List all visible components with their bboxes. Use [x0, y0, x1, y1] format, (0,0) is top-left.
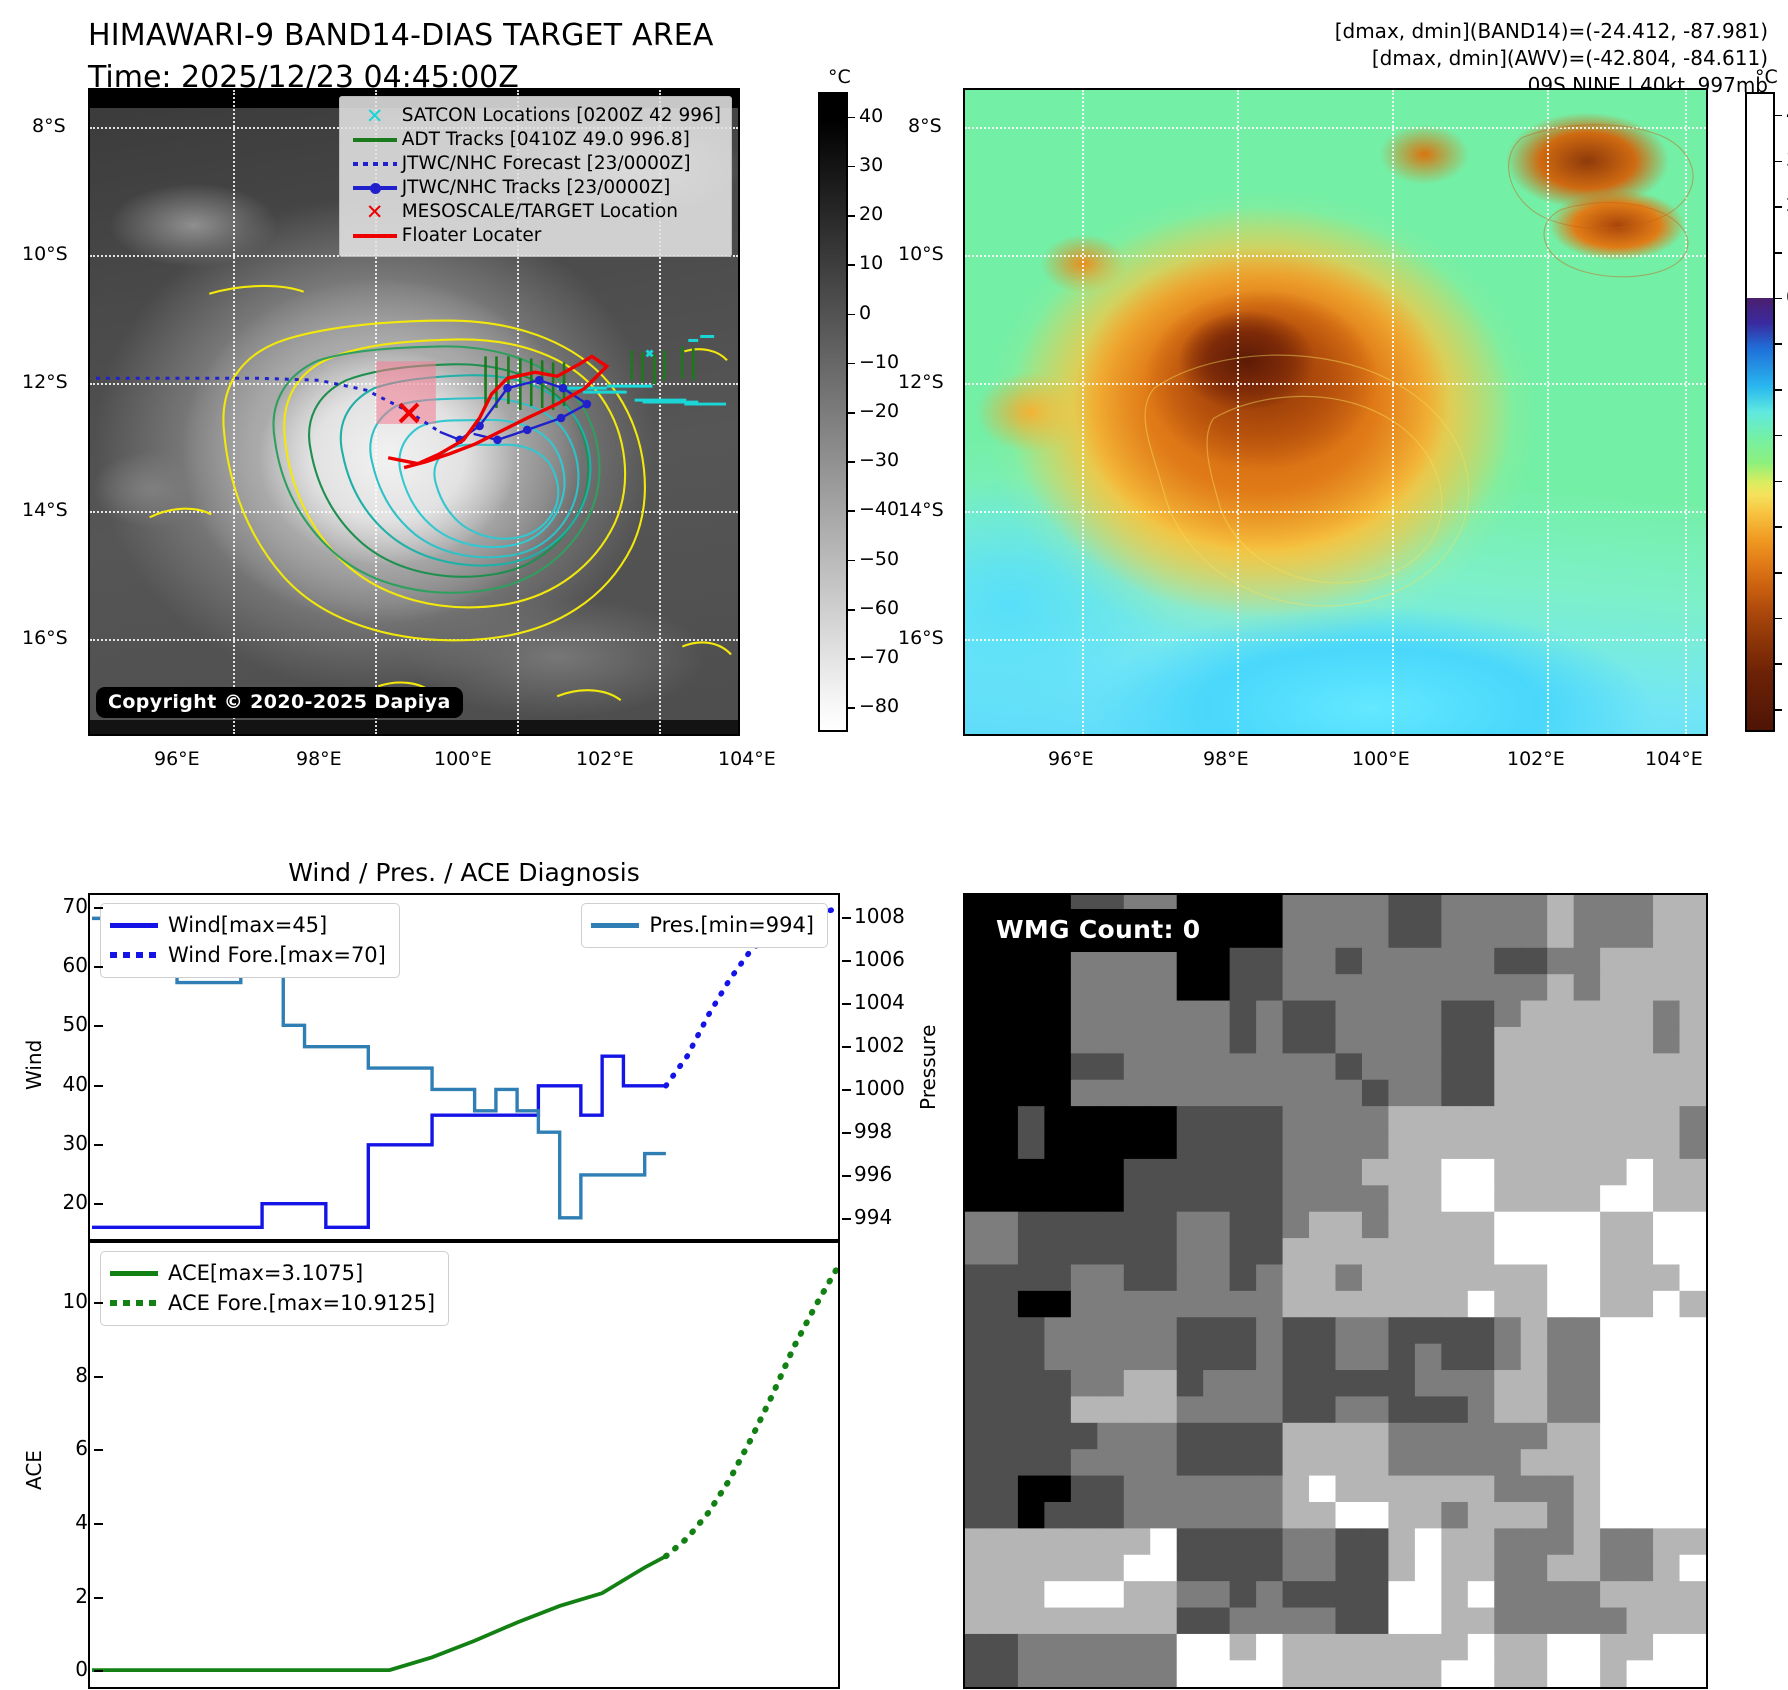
colorbar-tick-label: −40 [859, 498, 899, 520]
wmg-cell [1283, 1159, 1310, 1186]
wmg-cell [1124, 1053, 1151, 1080]
wmg-cell [1521, 1053, 1548, 1080]
wmg-cell [1468, 1449, 1495, 1476]
wmg-cell [1468, 1476, 1495, 1503]
wmg-cell [1124, 1212, 1151, 1239]
wmg-cell [1124, 1001, 1151, 1028]
wmg-cell [1230, 1053, 1257, 1080]
colorbar-tick-mark [1775, 343, 1782, 345]
wmg-cell [1124, 1291, 1151, 1318]
wmg-cell [1362, 1449, 1389, 1476]
wmg-cell [1335, 1555, 1362, 1582]
wmg-cell [1627, 1449, 1654, 1476]
wmg-cell [1018, 1608, 1045, 1635]
wmg-cell [991, 1634, 1018, 1661]
colorbar-tick-label: −60 [859, 597, 899, 619]
wmg-cell [1309, 921, 1336, 948]
legend-item: ACE Fore.[max=10.9125] [110, 1288, 435, 1318]
wmg-cell [1097, 1423, 1124, 1450]
wmg-cell [1362, 1133, 1389, 1160]
wmg-cell [1494, 1370, 1521, 1397]
wmg-cell [1097, 1528, 1124, 1555]
wmg-cell [1071, 1396, 1098, 1423]
wmg-cell [1680, 1159, 1706, 1186]
wmg-cell [1521, 1660, 1548, 1686]
wmg-cell [1441, 1423, 1468, 1450]
wmg-cell [1574, 1106, 1601, 1133]
wmg-cell [1150, 1423, 1177, 1450]
wmg-cell [1203, 1080, 1230, 1107]
colorbar-tick-label: 0 [859, 302, 871, 324]
wmg-cell [1574, 1344, 1601, 1371]
wmg-cell [1653, 1449, 1680, 1476]
wmg-cell [1468, 1027, 1495, 1054]
wmg-cell [1574, 895, 1601, 922]
wmg-cell [1441, 1001, 1468, 1028]
wmg-cell [1574, 1317, 1601, 1344]
wmg-cell [965, 1581, 992, 1608]
dotted-line-icon [110, 952, 168, 958]
wmg-cell [1388, 1370, 1415, 1397]
wmg-cell [1044, 1555, 1071, 1582]
wmg-cell [1362, 1238, 1389, 1265]
wmg-cell [965, 1608, 992, 1635]
wmg-cell [1494, 1423, 1521, 1450]
axis-tick-mark [94, 966, 103, 968]
wmg-cell [1441, 1449, 1468, 1476]
colorbar-tick-mark [1775, 435, 1782, 437]
wmg-cell [1124, 1528, 1151, 1555]
wmg-cell [1309, 1502, 1336, 1529]
wmg-cell [1653, 1291, 1680, 1318]
wmg-cell [1203, 1106, 1230, 1133]
wmg-cell [1177, 1528, 1204, 1555]
axis-tick-label: 1002 [854, 1033, 905, 1057]
solid-line-icon [348, 234, 402, 238]
wmg-cell [965, 1133, 992, 1160]
wmg-cell [1018, 1264, 1045, 1291]
wmg-cell [965, 1317, 992, 1344]
wmg-cell [1309, 1291, 1336, 1318]
wmg-cell [1150, 1476, 1177, 1503]
wmg-cell [1468, 1317, 1495, 1344]
wmg-cell [1362, 895, 1389, 922]
wmg-cell [1097, 1370, 1124, 1397]
wmg-cell [1309, 1185, 1336, 1212]
wmg-cell [1627, 895, 1654, 922]
wmg-cell [1362, 1528, 1389, 1555]
wmg-cell [1177, 1027, 1204, 1054]
solid-line-icon [110, 1271, 168, 1276]
wmg-cell [1494, 1185, 1521, 1212]
wmg-cell [1335, 895, 1362, 922]
wmg-cell [1468, 1555, 1495, 1582]
wmg-cell [1653, 1502, 1680, 1529]
wmg-cell [1044, 1053, 1071, 1080]
wind-pressure-chart[interactable]: Wind[max=45] Wind Fore.[max=70] Pres.[mi… [88, 893, 840, 1241]
wmg-cell [1230, 974, 1257, 1001]
wmg-cell [1018, 1370, 1045, 1397]
wmg-cell [1150, 1238, 1177, 1265]
wmg-cell [1653, 1344, 1680, 1371]
wmg-cell [1309, 1344, 1336, 1371]
wmg-cell [1494, 1581, 1521, 1608]
colorbar-tick-mark [848, 707, 855, 709]
wmg-cell [1018, 1291, 1045, 1318]
wmg-cell [1494, 1159, 1521, 1186]
wmg-cell [1627, 1528, 1654, 1555]
wmg-cell [1680, 1581, 1706, 1608]
axis-tick-mark [94, 1523, 103, 1525]
axis-tick-mark [842, 1132, 851, 1134]
wmg-cell [1283, 1001, 1310, 1028]
wmg-cell [1468, 1528, 1495, 1555]
wmg-cell [1230, 1370, 1257, 1397]
wmg-cell [1230, 1660, 1257, 1686]
wmg-cell [1097, 1053, 1124, 1080]
wmg-cell [1071, 1344, 1098, 1371]
wmg-cell [1388, 1001, 1415, 1028]
wmg-cell [1521, 1528, 1548, 1555]
ir-lat-tick: 14°S [22, 499, 68, 521]
wmg-cell [1415, 1106, 1442, 1133]
wmg-cell [1547, 1001, 1574, 1028]
wmg-cell [1415, 1212, 1442, 1239]
wmg-count-badge: WMG Count: 0 [979, 909, 1217, 952]
axis-tick-label: 10 [42, 1289, 88, 1313]
wmg-cell [1547, 1238, 1574, 1265]
wmg-cell [1600, 1080, 1627, 1107]
legend-item: Wind Fore.[max=70] [110, 940, 386, 970]
axis-tick-mark [94, 907, 103, 909]
wmg-cell [1309, 1449, 1336, 1476]
wmg-cell [1600, 1106, 1627, 1133]
wmg-cell [1044, 1634, 1071, 1661]
wmg-cell [1335, 948, 1362, 975]
wmg-cell [1335, 1528, 1362, 1555]
wmg-cell [1283, 1423, 1310, 1450]
wmg-cell [1124, 1608, 1151, 1635]
wmg-cell [1415, 1264, 1442, 1291]
wmg-cell [1547, 1053, 1574, 1080]
wmg-cell [1600, 1027, 1627, 1054]
x-marker-icon: ✕ [348, 106, 402, 127]
wmg-cell [1627, 1317, 1654, 1344]
wmg-cell [1362, 921, 1389, 948]
wmg-cell [1468, 1396, 1495, 1423]
wmg-cell [1494, 1001, 1521, 1028]
wmg-cell [1203, 1502, 1230, 1529]
wmg-cell [1415, 1396, 1442, 1423]
wmg-cell [1071, 1212, 1098, 1239]
wmg-cell [965, 1555, 992, 1582]
wmg-cell [1468, 1423, 1495, 1450]
wmg-cell [1335, 1185, 1362, 1212]
colorbar-tick-mark [848, 166, 855, 168]
wmg-cell [1388, 1396, 1415, 1423]
wmg-cell [1071, 1053, 1098, 1080]
wmg-cell [1230, 1001, 1257, 1028]
wmg-cell [1097, 1581, 1124, 1608]
wmg-cell [1230, 1080, 1257, 1107]
wmg-cell [1044, 1212, 1071, 1239]
wmg-cell [1600, 1423, 1627, 1450]
colorbar-tick-label: 20 [859, 203, 883, 225]
wmg-cell [1097, 1608, 1124, 1635]
wmg-cell [1574, 1634, 1601, 1661]
axis-tick-label: 1004 [854, 990, 905, 1014]
wmg-cell [1547, 1291, 1574, 1318]
wmg-cell [1177, 1634, 1204, 1661]
wmg-cell [1283, 1608, 1310, 1635]
wmg-cell [1415, 1238, 1442, 1265]
ir-satellite-map[interactable]: ✕ SATCON Locations [0200Z 42 996] ADT Tr… [88, 88, 740, 736]
wmg-cell [1362, 1080, 1389, 1107]
wmg-cell [1547, 921, 1574, 948]
colorbar-tick-mark [848, 658, 855, 660]
wmg-cell [991, 1449, 1018, 1476]
wmg-cell [1283, 1106, 1310, 1133]
wmg-cell [1256, 948, 1283, 975]
wmg-cell [1283, 1317, 1310, 1344]
wmg-cell [1283, 1291, 1310, 1318]
wmg-cell [1653, 1317, 1680, 1344]
wmg-cell [1044, 1476, 1071, 1503]
wmg-cell [1071, 1027, 1098, 1054]
wmg-cell [1071, 1001, 1098, 1028]
wmg-cell [1680, 1423, 1706, 1450]
ir-lat-tick: 16°S [22, 627, 68, 649]
wmg-cell [965, 1423, 992, 1450]
wmg-cell [1283, 1053, 1310, 1080]
wmg-cell [991, 1080, 1018, 1107]
wmg-cell [1574, 1291, 1601, 1318]
series-dotted [666, 1270, 836, 1556]
wmg-cell [1574, 1027, 1601, 1054]
wmg-cell [1256, 1027, 1283, 1054]
colorbar-tick-label: −20 [859, 400, 899, 422]
wmg-cell [1097, 1106, 1124, 1133]
wmg-cell [1177, 1581, 1204, 1608]
wmg-cell [965, 1660, 992, 1686]
wmg-cell [1388, 1634, 1415, 1661]
wmg-cell [1388, 1528, 1415, 1555]
wmg-cell [1309, 1608, 1336, 1635]
wmg-cell [1230, 948, 1257, 975]
wmg-cell [1256, 1423, 1283, 1450]
wmg-cell [1415, 1027, 1442, 1054]
wmg-cell [1494, 1264, 1521, 1291]
wmg-cell [965, 1396, 992, 1423]
wmg-cell [1203, 1581, 1230, 1608]
wmg-cell [1653, 895, 1680, 922]
axis-tick-mark [94, 1670, 103, 1672]
wmg-cell [1441, 1291, 1468, 1318]
wmg-cell [1415, 1344, 1442, 1371]
wmg-cell [1203, 1608, 1230, 1635]
wmg-cell [965, 974, 992, 1001]
wmg-cell [1283, 1449, 1310, 1476]
wmg-cell [991, 1317, 1018, 1344]
wmg-cell [1441, 1502, 1468, 1529]
wmg-mosaic[interactable]: WMG Count: 0 [963, 893, 1708, 1689]
wmg-cell [1441, 948, 1468, 975]
wmg-cell [1627, 921, 1654, 948]
wmg-cell [1230, 1476, 1257, 1503]
ace-chart[interactable]: ACE[max=3.1075] ACE Fore.[max=10.9125] [88, 1241, 840, 1689]
wmg-cell [1044, 1608, 1071, 1635]
wmg-cell [1071, 974, 1098, 1001]
wmg-cell [1124, 1449, 1151, 1476]
wmg-cell [1097, 1476, 1124, 1503]
wmg-cell [1362, 1344, 1389, 1371]
wmg-cell [1256, 1634, 1283, 1661]
axis-tick-label: 994 [854, 1205, 892, 1229]
wmg-cell [1547, 1159, 1574, 1186]
wmg-cell [1230, 1212, 1257, 1239]
wmg-cell [1441, 895, 1468, 922]
wmg-cell [1653, 1660, 1680, 1686]
wmg-cell [1415, 1634, 1442, 1661]
wmg-cell [1256, 1396, 1283, 1423]
ir-lon-tick: 102°E [576, 748, 634, 770]
wmg-cell [1335, 1238, 1362, 1265]
wmg-cell [965, 1212, 992, 1239]
wmg-cell [1071, 1370, 1098, 1397]
colorbar-tick-mark [1775, 481, 1782, 483]
wmg-cell [1388, 974, 1415, 1001]
wmg-cell [1362, 1264, 1389, 1291]
wmg-cell [1230, 1159, 1257, 1186]
wmg-cell [1071, 1449, 1098, 1476]
wmg-cell [1388, 1133, 1415, 1160]
wmg-cell [1680, 1185, 1706, 1212]
wmg-cell [1044, 1238, 1071, 1265]
axis-tick-mark [94, 1302, 103, 1304]
wmg-cell [1627, 1027, 1654, 1054]
wmg-cell [1547, 1608, 1574, 1635]
wmg-cell [1547, 1370, 1574, 1397]
wmg-cell [1494, 1238, 1521, 1265]
wmg-cell [1256, 1133, 1283, 1160]
wmg-cell [991, 1238, 1018, 1265]
wmg-cell [1044, 974, 1071, 1001]
wmg-cell [1494, 1449, 1521, 1476]
wmg-cell [1177, 1238, 1204, 1265]
wmg-cell [1415, 1370, 1442, 1397]
wv-colorbar [1745, 92, 1775, 732]
wmg-cell [1600, 1185, 1627, 1212]
wmg-cell [1415, 948, 1442, 975]
wmg-cell [1335, 1344, 1362, 1371]
colorbar-tick-label: −80 [859, 695, 899, 717]
wmg-cell [1071, 1660, 1098, 1686]
wmg-cell [1627, 1001, 1654, 1028]
wmg-cell [1388, 1291, 1415, 1318]
wmg-cell [1627, 1608, 1654, 1635]
wv-lat-tick: 10°S [898, 243, 944, 265]
wmg-cell [965, 1291, 992, 1318]
wmg-cell [1177, 1291, 1204, 1318]
wmg-cell [1388, 1185, 1415, 1212]
wmg-cell [1018, 1396, 1045, 1423]
wmg-cell [991, 1423, 1018, 1450]
wmg-cell [1627, 1370, 1654, 1397]
wmg-cell [1256, 1581, 1283, 1608]
wmg-cell [1388, 921, 1415, 948]
wmg-cell [1150, 1660, 1177, 1686]
colorbar-tick-mark [848, 215, 855, 217]
wmg-cell [991, 1396, 1018, 1423]
wmg-cell [1071, 1608, 1098, 1635]
wmg-cell [1335, 1291, 1362, 1318]
legend-item: ACE[max=3.1075] [110, 1258, 435, 1288]
wv-lat-tick: 14°S [898, 499, 944, 521]
wmg-cell [1600, 1317, 1627, 1344]
wmg-cell [1680, 895, 1706, 922]
wmg-cell [1124, 1106, 1151, 1133]
wmg-cell [1415, 1555, 1442, 1582]
wmg-cell [1627, 1502, 1654, 1529]
wmg-cell [1309, 1476, 1336, 1503]
wv-satellite-map[interactable] [963, 88, 1708, 736]
wmg-cell [1388, 1212, 1415, 1239]
wmg-cell [1494, 1027, 1521, 1054]
wmg-cell-grid [965, 895, 1706, 1687]
wmg-cell [1256, 1238, 1283, 1265]
wv-lon-tick: 98°E [1203, 748, 1249, 770]
wmg-cell [1415, 895, 1442, 922]
wmg-cell [1521, 1396, 1548, 1423]
wmg-cell [1124, 1185, 1151, 1212]
wmg-cell [1283, 1581, 1310, 1608]
colorbar-tick-mark [1775, 161, 1782, 163]
wmg-cell [1044, 1423, 1071, 1450]
axis-tick-label: 30 [42, 1131, 88, 1155]
wmg-cell [1441, 1660, 1468, 1686]
wmg-cell [1044, 1027, 1071, 1054]
wmg-cell [1521, 974, 1548, 1001]
wmg-cell [1653, 1370, 1680, 1397]
wmg-cell [1547, 1476, 1574, 1503]
wmg-cell [1309, 1027, 1336, 1054]
wmg-cell [1468, 1080, 1495, 1107]
wmg-cell [1203, 1053, 1230, 1080]
wmg-cell [1283, 1027, 1310, 1054]
wmg-cell [1627, 1476, 1654, 1503]
wmg-cell [991, 1476, 1018, 1503]
wmg-cell [1071, 1502, 1098, 1529]
wmg-cell [1627, 1185, 1654, 1212]
wmg-cell [1388, 1080, 1415, 1107]
wmg-cell [1150, 1528, 1177, 1555]
wmg-cell [1256, 974, 1283, 1001]
wmg-cell [1627, 948, 1654, 975]
wmg-cell [1018, 1080, 1045, 1107]
wmg-cell [1097, 1449, 1124, 1476]
wmg-cell [1680, 1106, 1706, 1133]
wmg-cell [1521, 1212, 1548, 1239]
wmg-cell [1203, 1396, 1230, 1423]
wmg-cell [1574, 1608, 1601, 1635]
wmg-cell [1547, 1423, 1574, 1450]
wmg-cell [1680, 1634, 1706, 1661]
wmg-cell [1335, 1370, 1362, 1397]
wmg-cell [1415, 1608, 1442, 1635]
solid-line-icon [348, 138, 402, 142]
wmg-cell [1468, 1133, 1495, 1160]
wmg-cell [1124, 1344, 1151, 1371]
